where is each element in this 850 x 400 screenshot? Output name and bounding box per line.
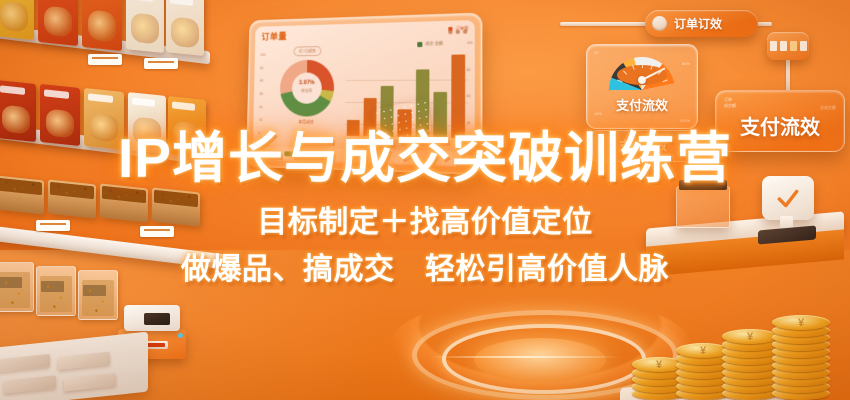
promo-banner: 订单量 订单量 成交 金额 100 52 45 38 25 16 8 — [0, 0, 850, 400]
subtitle-line-2: 做爆品、搞成交 轻松引高价值人脉 — [0, 247, 850, 294]
subheadline-block: 目标制定＋找高价值定位 做爆品、搞成交 轻松引高价值人脉 — [0, 200, 850, 293]
headline-block: IP增长与成交突破训练营 — [0, 131, 850, 186]
subtitle-line-1: 目标制定＋找高价值定位 — [0, 200, 850, 247]
page-title: IP增长与成交突破训练营 — [0, 131, 850, 186]
